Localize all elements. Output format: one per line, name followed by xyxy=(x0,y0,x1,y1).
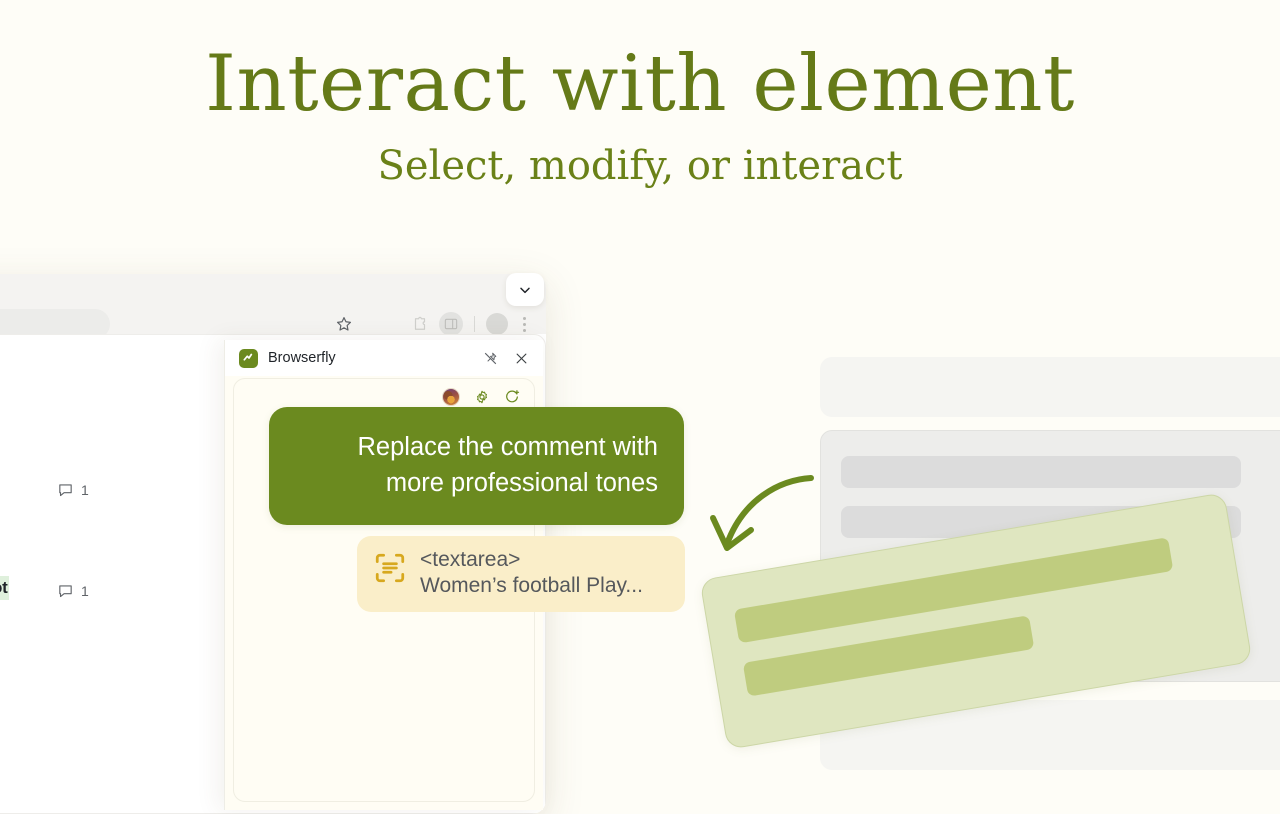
chat-message-bubble: Replace the comment with more profession… xyxy=(269,407,684,525)
extension-panel-title: Browserfly xyxy=(268,350,336,366)
avatar-icon[interactable] xyxy=(442,388,460,406)
extension-panel-header: Browserfly xyxy=(225,340,543,376)
decorative-illustration xyxy=(790,340,1280,800)
pin-off-icon[interactable] xyxy=(483,351,498,366)
collapse-panel-button[interactable] xyxy=(506,273,544,306)
highlighted-text: ot xyxy=(0,576,9,600)
selected-element-text: <textarea> Women’s football Play... xyxy=(420,548,643,598)
side-panel-icon[interactable] xyxy=(439,312,463,336)
refresh-new-icon[interactable] xyxy=(504,389,520,405)
comment-icon xyxy=(57,481,74,498)
avatar-icon[interactable] xyxy=(486,313,508,335)
curved-arrow-icon xyxy=(705,460,825,570)
close-icon[interactable] xyxy=(514,351,529,366)
scan-text-icon xyxy=(373,551,407,585)
toolbar-divider xyxy=(474,316,475,332)
chevron-down-icon xyxy=(517,282,533,298)
extension-panel-header-actions xyxy=(483,351,529,366)
skeleton-bar xyxy=(841,456,1241,488)
comment-icon xyxy=(57,582,74,599)
puzzle-icon[interactable] xyxy=(408,312,432,336)
selected-element-chip[interactable]: <textarea> Women’s football Play... xyxy=(357,536,685,612)
hero-section: Interact with element Select, modify, or… xyxy=(0,0,1280,188)
browser-chrome xyxy=(0,274,546,334)
browserfly-logo-icon xyxy=(239,349,258,368)
page-subtitle: Select, modify, or interact xyxy=(0,126,1280,188)
skeleton-card-top xyxy=(820,357,1280,417)
extension-panel-toolbar xyxy=(442,388,520,406)
selected-element-value: Women’s football Play... xyxy=(420,573,643,598)
comment-count: 1 xyxy=(81,583,89,599)
browser-toolbar-icons xyxy=(408,312,533,336)
selected-element-tag: <textarea> xyxy=(420,548,643,573)
page-title: Interact with element xyxy=(0,0,1280,126)
comment-count: 1 xyxy=(81,482,89,498)
star-icon[interactable] xyxy=(335,315,353,333)
three-dots-icon[interactable] xyxy=(515,312,533,336)
gear-icon[interactable] xyxy=(474,389,490,405)
comment-count-row[interactable]: 1 xyxy=(57,481,89,498)
comment-count-row[interactable]: 1 xyxy=(57,582,89,599)
